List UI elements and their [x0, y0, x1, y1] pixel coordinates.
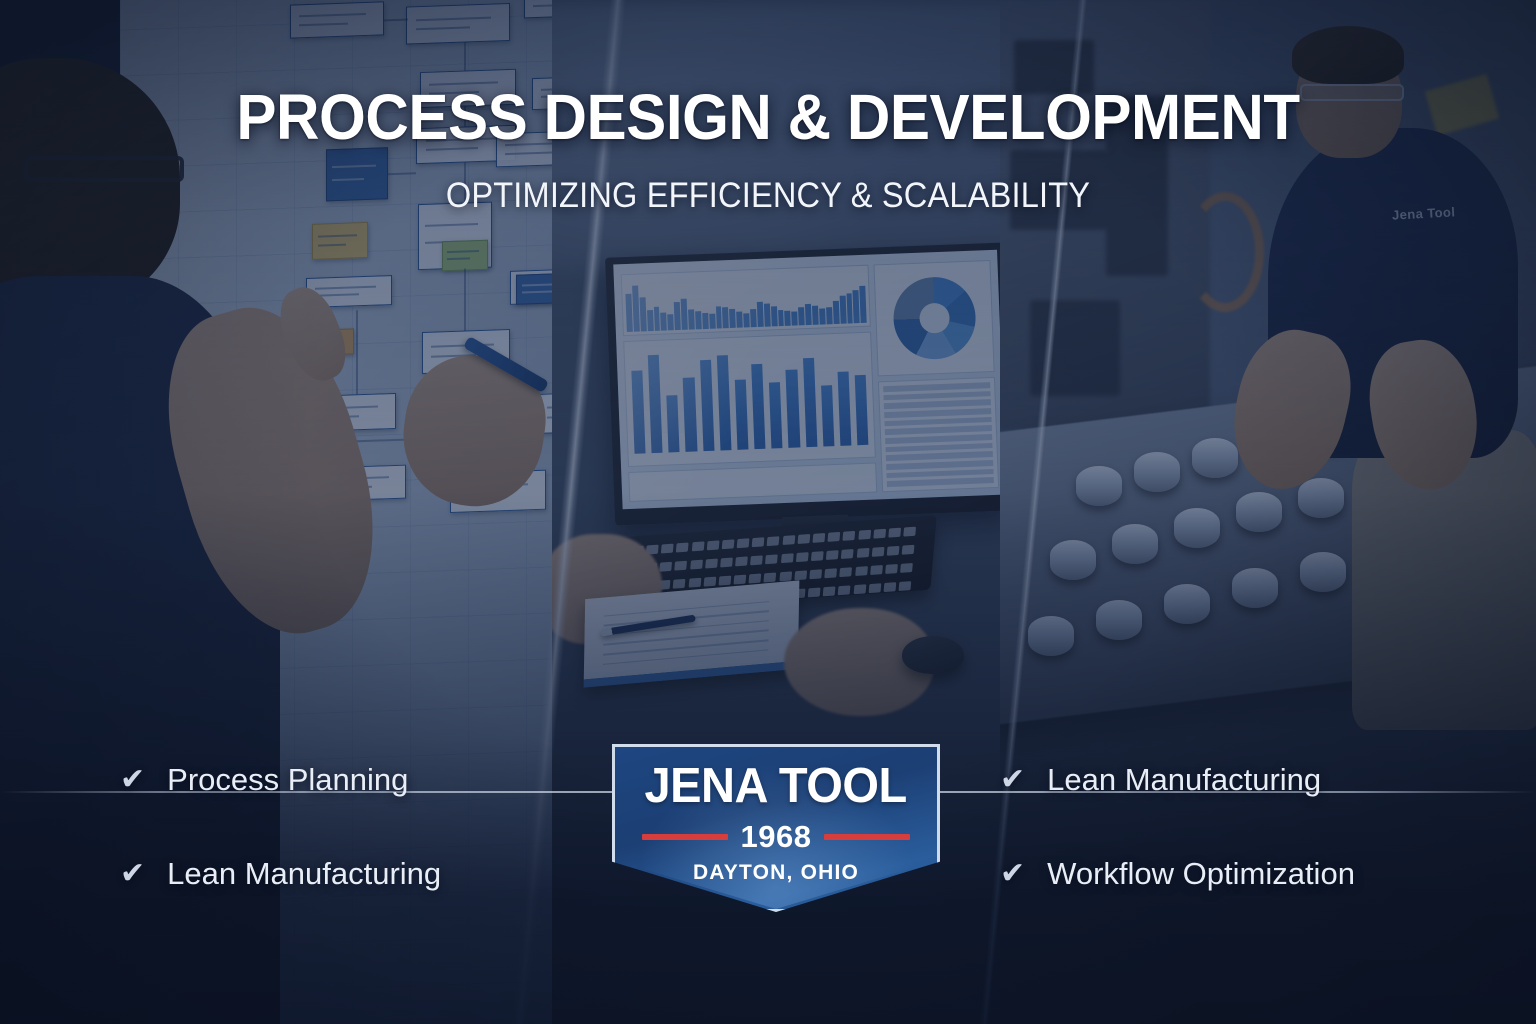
feature-list-right: ✔ Lean Manufacturing ✔ Workflow Optimiza… — [1000, 762, 1355, 950]
dashboard-footer-panel — [628, 463, 877, 503]
metal-part — [1050, 540, 1096, 580]
computer-monitor — [605, 242, 1015, 525]
feature-label: Lean Manufacturing — [1047, 762, 1321, 798]
metal-part — [1192, 438, 1238, 478]
metal-part — [1236, 492, 1282, 532]
logo-year-row: 1968 — [642, 819, 911, 855]
flowchart-connector — [464, 42, 466, 70]
check-icon: ✔ — [1000, 765, 1025, 795]
metal-part — [1134, 452, 1180, 492]
logo-dash-left — [642, 834, 728, 840]
page-subtitle: OPTIMIZING EFFICIENCY & SCALABILITY — [54, 176, 1482, 216]
flowchart-node — [290, 1, 384, 38]
logo-founding-year: 1968 — [741, 819, 812, 855]
logo-content: JENA TOOL 1968 DAYTON, OHIO — [612, 744, 940, 912]
computer-mouse — [902, 636, 964, 674]
logo-location: DAYTON, OHIO — [693, 861, 859, 885]
donut-chart — [874, 260, 995, 376]
feature-label: Workflow Optimization — [1047, 856, 1355, 892]
company-logo-badge[interactable]: JENA TOOL 1968 DAYTON, OHIO — [612, 744, 940, 912]
dashboard-screen — [613, 250, 1006, 510]
dashboard-left-column — [621, 265, 878, 502]
logo-company-name: JENA TOOL — [645, 758, 907, 814]
worker-hair — [1292, 26, 1404, 84]
logo-dash-right — [824, 834, 910, 840]
metal-part — [1112, 524, 1158, 564]
feature-list-left: ✔ Process Planning ✔ Lean Manufacturing — [120, 762, 441, 950]
monitor-bezel — [605, 242, 1015, 525]
check-icon: ✔ — [120, 765, 145, 795]
metal-part — [1076, 466, 1122, 506]
feature-item: ✔ Process Planning — [120, 762, 441, 798]
metal-part — [1232, 568, 1278, 608]
feature-label: Lean Manufacturing — [167, 856, 441, 892]
donut-chart-ring — [892, 276, 977, 361]
flowchart-connector — [356, 310, 358, 394]
feature-label: Process Planning — [167, 762, 408, 798]
metal-part — [1096, 600, 1142, 640]
sticky-note-yellow — [312, 222, 368, 260]
bar-chart — [623, 332, 876, 467]
dashboard-right-column — [874, 260, 999, 492]
metal-part — [1300, 552, 1346, 592]
dashboard-data-list — [878, 377, 999, 492]
histogram-chart — [621, 265, 871, 336]
metal-part — [1164, 584, 1210, 624]
page-title: PROCESS DESIGN & DEVELOPMENT — [46, 80, 1490, 154]
metal-part — [1174, 508, 1220, 548]
check-icon: ✔ — [1000, 859, 1025, 889]
flowchart-node — [406, 3, 510, 45]
feature-item: ✔ Workflow Optimization — [1000, 856, 1355, 892]
metal-part — [1298, 478, 1344, 518]
flowchart-connector — [464, 268, 466, 330]
feature-item: ✔ Lean Manufacturing — [120, 856, 441, 892]
metal-part — [1028, 616, 1074, 656]
promo-banner: Jena Tool PROCESS DESIGN & DEVELOPMENT O… — [0, 0, 1536, 1024]
feature-item: ✔ Lean Manufacturing — [1000, 762, 1355, 798]
sticky-note-green — [442, 240, 488, 272]
check-icon: ✔ — [120, 859, 145, 889]
